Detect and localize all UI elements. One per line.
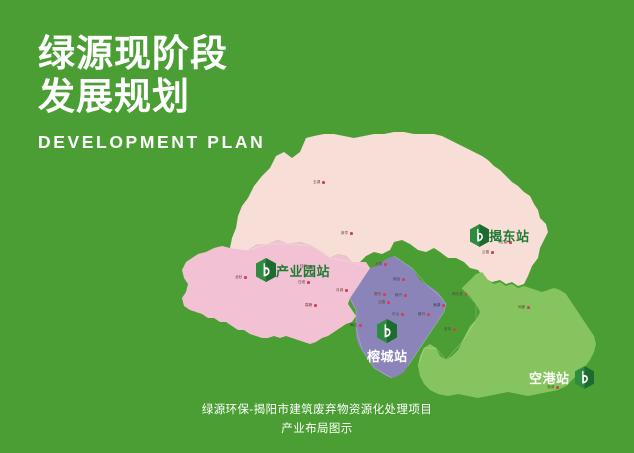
town-label: 梅云 [350,323,357,328]
station-label-chanyeyuan: 产业园站 [276,261,330,280]
town-dot-icon [350,232,353,235]
town-label: 登岗 [444,327,451,332]
page-title-line-1: 绿源现阶段 [38,32,265,75]
page-subtitle: DEVELOPMENT PLAN [38,132,265,153]
town-marker: 新亨 [341,231,353,236]
town-label: 新兴 [395,293,402,298]
town-label: 云楼 [482,250,489,255]
town-marker: 新兴 [395,293,407,298]
town-dot-icon [383,293,386,296]
lvyuan-logo-icon [575,366,594,389]
town-dot-icon [345,289,348,292]
town-marker: 登岗 [444,327,456,332]
town-marker: 磐东 [374,292,386,297]
town-marker: 霖磐 [305,303,317,308]
lvyuan-logo-icon [377,319,397,343]
town-label: 玉湖 [313,180,320,185]
poster-caption: 绿源环保-揭阳市建筑废弃物资源化处理项目 产业布局图示 [0,401,634,439]
town-marker: 梅云 [350,323,362,328]
town-marker: 揭东县 [452,292,467,297]
town-dot-icon [314,304,317,307]
caption-line-2: 产业布局图示 [0,420,634,439]
town-label: 地都 [518,305,525,310]
station-marker-jiedong[interactable]: 揭东站 [470,224,535,247]
town-label: 龙砂 [235,275,242,280]
town-dot-icon [465,293,468,296]
town-marker: 炮台 [393,277,405,282]
town-dot-icon [384,263,387,266]
town-dot-icon [322,181,325,184]
town-dot-icon [453,328,456,331]
town-marker: 云路 [378,300,390,305]
town-marker: 新兴 [418,312,430,317]
town-marker: 中山 [392,312,404,317]
station-label-jiedong: 揭东站 [489,226,530,245]
town-label: 炮台 [393,277,400,282]
town-label: 云路 [378,300,385,305]
lvyuan-logo-icon [256,258,276,282]
town-dot-icon [402,278,405,281]
town-dot-icon [387,301,390,304]
town-label: 龙尾 [375,262,382,267]
town-label: 揭东县 [452,292,463,297]
town-marker: 龙尾 [375,262,387,267]
town-dot-icon [491,251,494,254]
station-marker-rongcheng[interactable]: 榕城站 [367,319,408,365]
town-dot-icon [244,276,247,279]
station-label-konggang: 空港站 [529,368,570,387]
lvyuan-logo-icon [470,224,489,247]
caption-line-1: 绿源环保-揭阳市建筑废弃物资源化处理项目 [0,401,634,420]
town-marker: 月城 [336,288,348,293]
headline-block: 绿源现阶段 发展规划 DEVELOPMENT PLAN [38,32,265,153]
town-marker: 龙砂 [235,275,247,280]
town-dot-icon [401,313,404,316]
town-label: 月城 [336,288,343,293]
town-marker: 玉湖 [313,180,325,185]
town-label: 中山 [392,312,399,317]
development-plan-poster: 绿源现阶段 发展规划 DEVELOPMENT PLAN 产业园站 揭东站 [0,0,634,453]
town-dot-icon [427,313,430,316]
town-marker: 渔湖 [433,303,445,308]
town-dot-icon [442,304,445,307]
town-label: 霖磐 [305,303,312,308]
town-label: 磐东 [374,292,381,297]
town-label: 新兴 [418,312,425,317]
town-dot-icon [359,324,362,327]
station-marker-konggang[interactable]: 空港站 [524,366,594,389]
town-marker: 地都 [518,305,530,310]
town-dot-icon [404,294,407,297]
town-label: 渔湖 [433,303,440,308]
page-title-line-2: 发展规划 [38,75,265,118]
town-dot-icon [527,306,530,309]
station-marker-chanyeyuan[interactable]: 产业园站 [256,258,335,282]
station-label-rongcheng: 榕城站 [367,346,408,365]
town-label: 新亨 [341,231,348,236]
town-marker: 云楼 [482,250,494,255]
